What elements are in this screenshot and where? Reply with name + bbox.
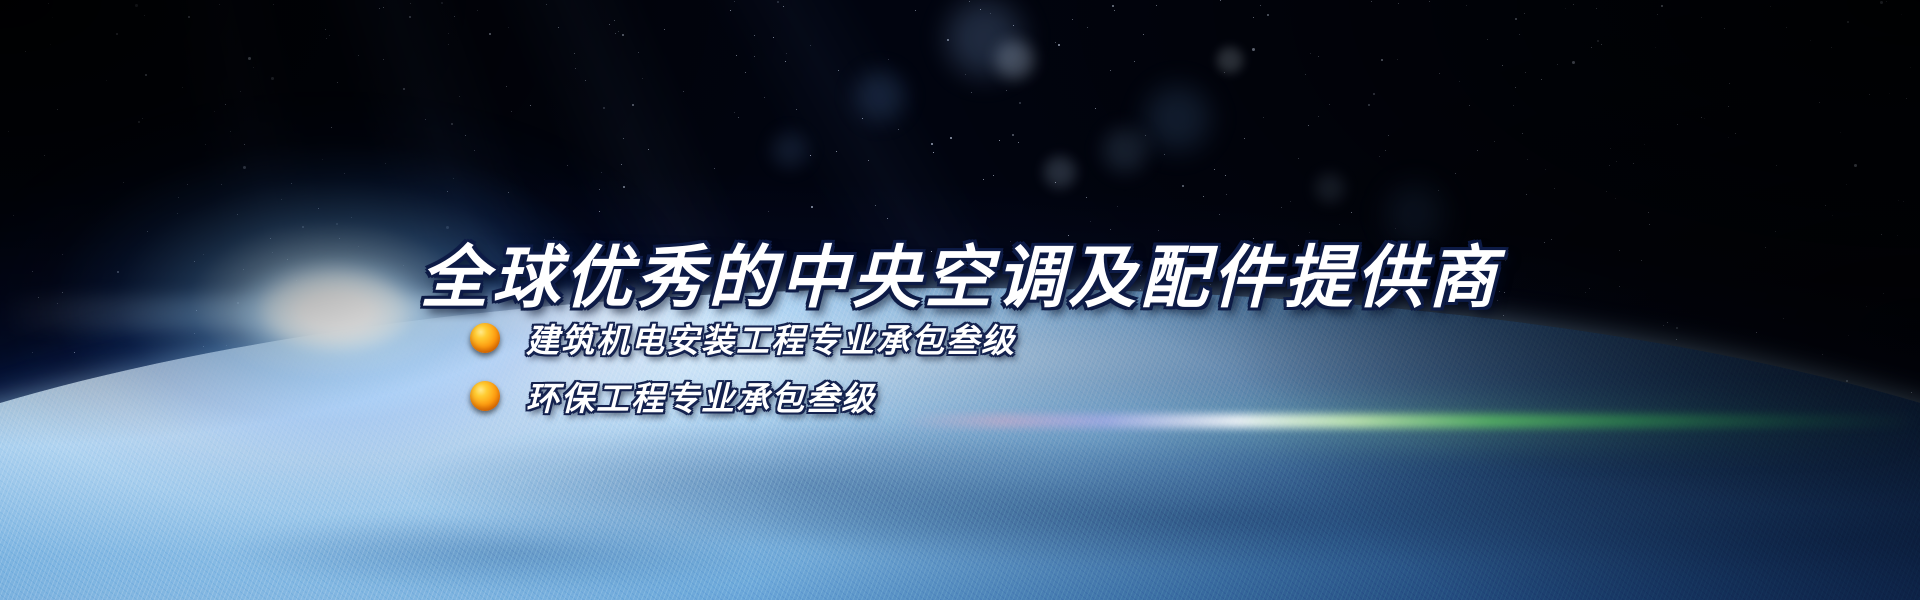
banner-bullet-list: 建筑机电安装工程专业承包叁级 环保工程专业承包叁级	[470, 312, 1016, 428]
bullet-label: 环保工程专业承包叁级	[526, 372, 876, 420]
hero-banner: 全球优秀的中央空调及配件提供商 建筑机电安装工程专业承包叁级 环保工程专业承包叁…	[0, 0, 1920, 600]
banner-headline: 全球优秀的中央空调及配件提供商	[0, 222, 1920, 321]
banner-content: 全球优秀的中央空调及配件提供商 建筑机电安装工程专业承包叁级 环保工程专业承包叁…	[0, 0, 1920, 600]
orange-dot-icon	[470, 323, 500, 353]
bullet-label: 建筑机电安装工程专业承包叁级	[526, 314, 1016, 362]
list-item: 建筑机电安装工程专业承包叁级	[470, 312, 1016, 364]
orange-dot-icon	[470, 381, 500, 411]
list-item: 环保工程专业承包叁级	[470, 370, 1016, 422]
